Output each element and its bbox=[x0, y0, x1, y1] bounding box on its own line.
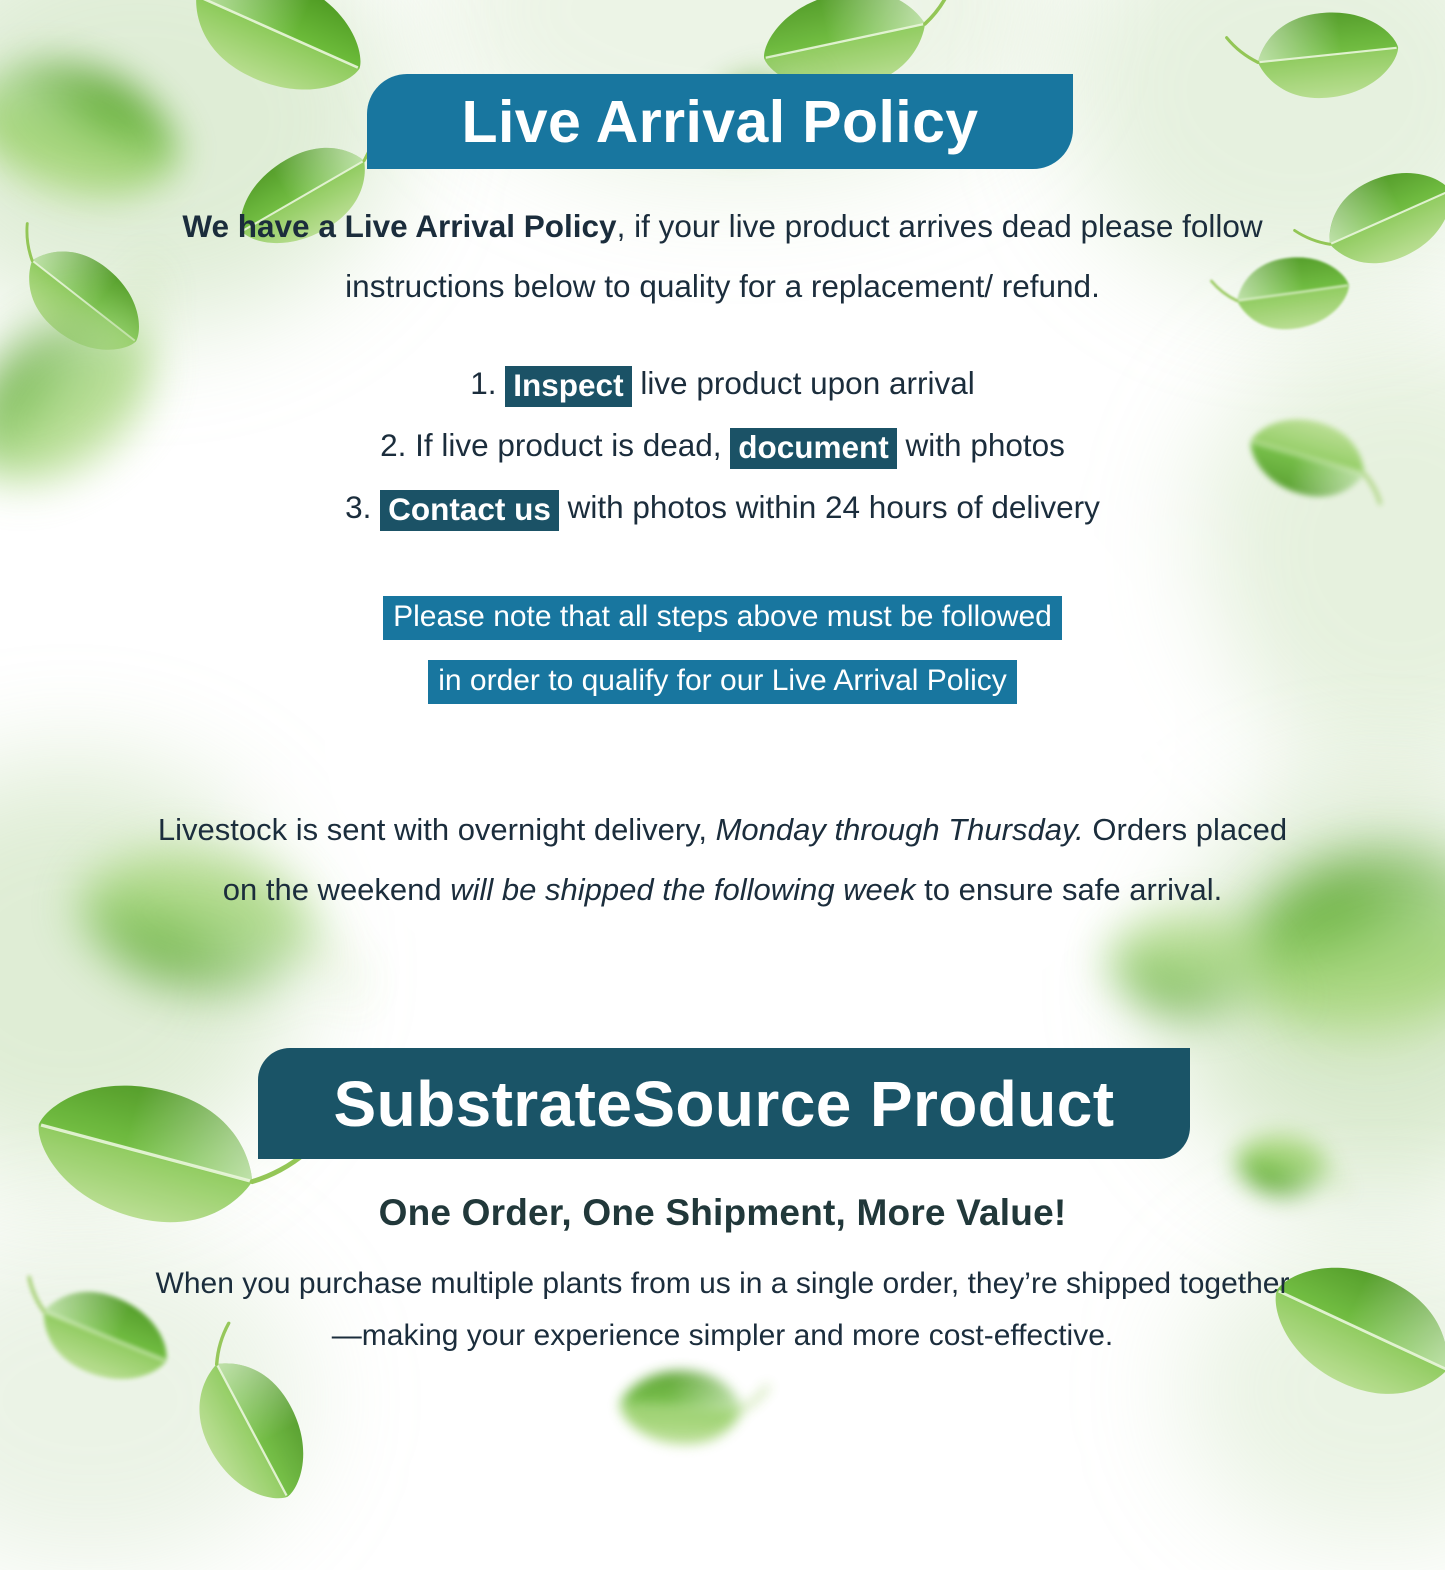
intro-paragraph: We have a Live Arrival Policy, if your l… bbox=[150, 196, 1295, 316]
step-3-highlight-contact-us: Contact us bbox=[380, 490, 559, 531]
shipping-text-1: Livestock is sent with overnight deliver… bbox=[158, 812, 716, 847]
please-note-line-1-wrap: Please note that all steps above must be… bbox=[150, 585, 1295, 649]
step-3-pre bbox=[371, 489, 380, 525]
policy-step-2: 2. If live product is dead, document wit… bbox=[150, 414, 1295, 476]
live-arrival-policy-title: Live Arrival Policy bbox=[462, 88, 979, 156]
live-arrival-policy-banner: Live Arrival Policy bbox=[367, 74, 1073, 169]
substratesource-product-banner: SubstrateSource Product bbox=[258, 1048, 1190, 1159]
shipping-italic-1: Monday through Thursday. bbox=[716, 812, 1084, 847]
intro-lead-text: We have a Live Arrival Policy bbox=[182, 208, 616, 244]
step-1-highlight-inspect: Inspect bbox=[505, 366, 631, 407]
step-2-number: 2. bbox=[380, 427, 406, 463]
value-proposition-paragraph: When you purchase multiple plants from u… bbox=[150, 1258, 1295, 1362]
step-3-post: with photos within 24 hours of delivery bbox=[559, 489, 1100, 525]
step-3-number: 3. bbox=[345, 489, 371, 525]
step-1-number: 1. bbox=[470, 365, 496, 401]
step-2-post: with photos bbox=[897, 427, 1065, 463]
step-2-pre: If live product is dead, bbox=[406, 427, 730, 463]
please-note-line-1: Please note that all steps above must be… bbox=[383, 596, 1062, 640]
please-note-block: Please note that all steps above must be… bbox=[150, 585, 1295, 713]
policy-step-3: 3. Contact us with photos within 24 hour… bbox=[150, 476, 1295, 538]
policy-step-1: 1. Inspect live product upon arrival bbox=[150, 352, 1295, 414]
substratesource-product-title: SubstrateSource Product bbox=[334, 1067, 1115, 1141]
shipping-italic-2: will be shipped the following week bbox=[450, 872, 915, 907]
shipping-text-3: to ensure safe arrival. bbox=[916, 872, 1223, 907]
shipping-schedule-paragraph: Livestock is sent with overnight deliver… bbox=[150, 800, 1295, 920]
please-note-line-2: in order to qualify for our Live Arrival… bbox=[428, 660, 1017, 704]
please-note-line-2-wrap: in order to qualify for our Live Arrival… bbox=[150, 649, 1295, 713]
value-proposition-heading: One Order, One Shipment, More Value! bbox=[150, 1192, 1295, 1234]
step-1-post: live product upon arrival bbox=[632, 365, 975, 401]
step-2-highlight-document: document bbox=[730, 428, 897, 469]
policy-steps-list: 1. Inspect live product upon arrival 2. … bbox=[150, 352, 1295, 538]
